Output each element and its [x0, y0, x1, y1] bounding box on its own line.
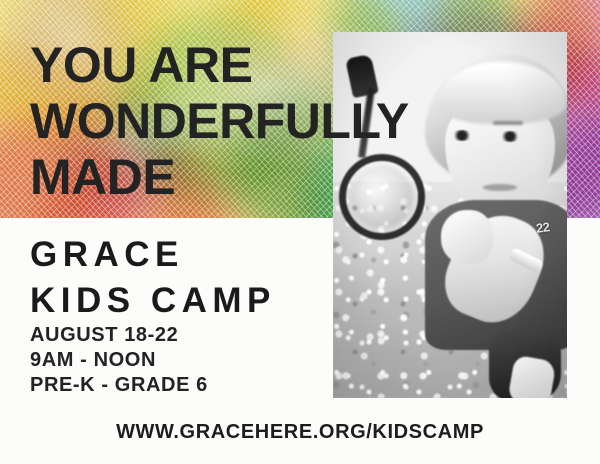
photo-child-brow — [493, 121, 523, 125]
headline-line-2: WONDERFULLY — [30, 96, 409, 146]
headline-line-1: YOU ARE — [30, 40, 252, 90]
photo-child-hand — [441, 210, 493, 264]
photo-child-eye-left — [452, 130, 472, 141]
event-ages: PRE-K - GRADE 6 — [30, 375, 208, 395]
event-dates: AUGUST 18-22 — [30, 325, 178, 345]
event-name-line-2: KIDS CAMP — [30, 283, 276, 318]
camp-flyer: 22 YOU ARE WONDERFULLY MADE GRACE KIDS C… — [0, 0, 600, 464]
photo-child-eye-right — [500, 131, 520, 142]
photo-child-mouth — [483, 184, 517, 191]
camp-photo: 22 — [333, 32, 567, 398]
headline-line-3: MADE — [30, 152, 175, 202]
event-name-line-1: GRACE — [30, 237, 184, 272]
event-time: 9AM - NOON — [30, 350, 156, 370]
website-url[interactable]: WWW.GRACEHERE.ORG/KIDSCAMP — [0, 421, 600, 444]
photo-bicycle-wheel — [339, 154, 425, 240]
